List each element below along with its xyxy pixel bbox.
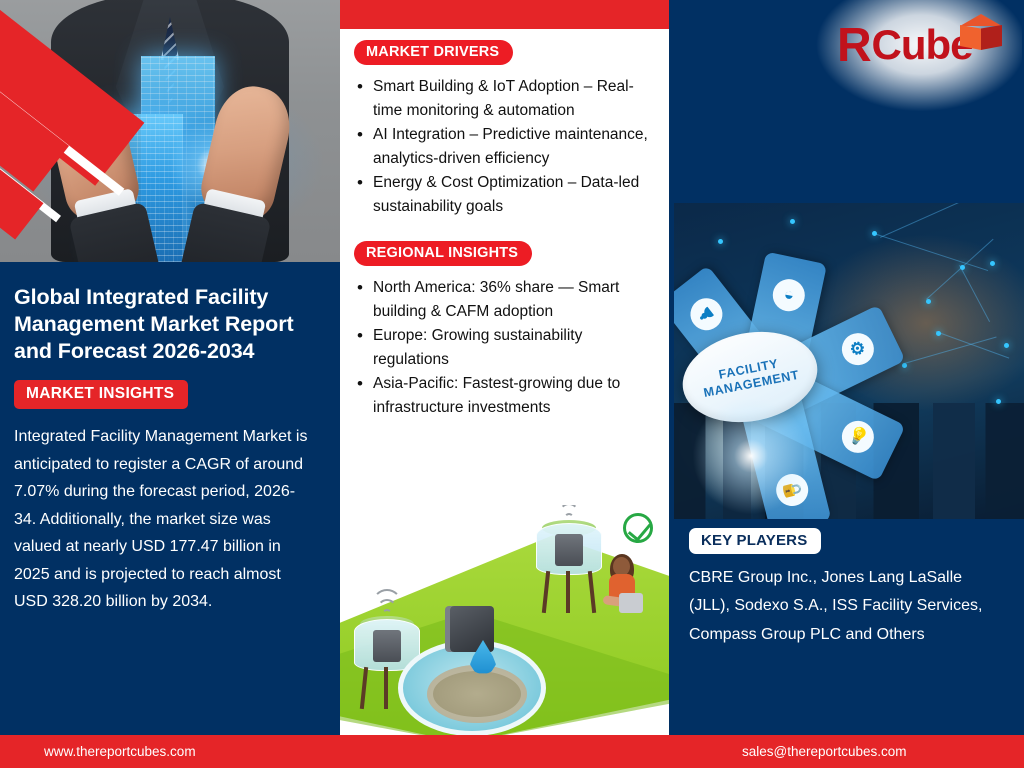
left-column: Global Integrated Facility Management Ma…	[0, 0, 340, 768]
list-item: Energy & Cost Optimization – Data-led su…	[354, 171, 657, 218]
logo-wordmark: ЯCube	[838, 22, 973, 70]
facility-management-illustration: ♟ ◐ ⚙ 💡 🔒 FACILITY MANAGEMENT	[674, 203, 1024, 519]
page-title: Global Integrated Facility Management Ma…	[14, 284, 316, 365]
cube-face-left	[960, 25, 981, 50]
regional-insights-badge: REGIONAL INSIGHTS	[354, 241, 532, 266]
person-icon: ♟	[684, 292, 729, 337]
network-line	[880, 203, 981, 238]
middle-column: MARKET DRIVERS Smart Building & IoT Adop…	[340, 0, 669, 768]
cube-face-right	[981, 25, 1002, 50]
check-circle-icon	[623, 513, 653, 543]
right-column: ЯCube	[669, 0, 1024, 768]
network-node	[790, 219, 795, 224]
list-item: AI Integration – Predictive maintenance,…	[354, 123, 657, 170]
water-reservoir	[398, 640, 546, 736]
network-node	[1004, 343, 1009, 348]
network-node	[926, 299, 931, 304]
tank-sensor-chip	[373, 630, 401, 662]
market-insights-badge: MARKET INSIGHTS	[14, 380, 188, 409]
middle-text-block: MARKET DRIVERS Smart Building & IoT Adop…	[340, 29, 669, 421]
cube-face-top	[960, 14, 1002, 26]
footer-email-link[interactable]: sales@thereportcubes.com	[742, 744, 907, 759]
water-tank-rear	[536, 523, 602, 613]
market-insights-text: Integrated Facility Management Market is…	[14, 423, 316, 616]
network-line	[959, 265, 990, 322]
iot-illustration	[340, 505, 669, 740]
list-item: Europe: Growing sustainability regulatio…	[354, 324, 657, 371]
list-item: Smart Building & IoT Adoption – Real-tim…	[354, 75, 657, 122]
infographic-page: Global Integrated Facility Management Ma…	[0, 0, 1024, 768]
middle-top-red-bar	[340, 0, 669, 29]
key-players-text: CBRE Group Inc., Jones Lang LaSalle (JLL…	[689, 564, 1002, 649]
network-node	[872, 231, 877, 236]
lightbulb-icon: 💡	[836, 415, 879, 458]
logo-cube-word: Cube	[872, 21, 973, 68]
microchip-icon	[450, 606, 494, 652]
lens-flare	[676, 381, 826, 519]
market-drivers-list: Smart Building & IoT Adoption – Real-tim…	[354, 75, 657, 218]
section-spacer	[354, 219, 657, 241]
network-line	[936, 331, 1010, 359]
gear-icon: ⚙	[836, 328, 879, 371]
network-node	[996, 399, 1001, 404]
tank-legs	[538, 571, 600, 613]
list-item: North America: 36% share — Smart buildin…	[354, 276, 657, 323]
network-node	[960, 265, 965, 270]
key-players-badge: KEY PLAYERS	[689, 528, 821, 554]
brand-logo[interactable]: ЯCube	[820, 2, 1010, 98]
reversed-r-icon: Я	[838, 22, 872, 70]
seated-worker-figure	[599, 557, 645, 619]
left-text-block: Global Integrated Facility Management Ma…	[0, 262, 340, 616]
cube-icon	[960, 14, 1002, 58]
hero-photo-businessman-skyscraper	[0, 0, 340, 262]
list-item: Asia-Pacific: Fastest-growing due to inf…	[354, 372, 657, 419]
pie-chart-icon: ◐	[770, 276, 808, 314]
key-players-block: KEY PLAYERS CBRE Group Inc., Jones Lang …	[669, 528, 1024, 649]
network-node	[936, 331, 941, 336]
market-drivers-badge: MARKET DRIVERS	[354, 40, 513, 65]
footer-website-link[interactable]: www.thereportcubes.com	[44, 744, 196, 759]
network-node	[990, 261, 995, 266]
tank-sensor-chip	[555, 534, 583, 566]
footer-bar: www.thereportcubes.com sales@thereportcu…	[0, 735, 1024, 768]
figure-seat-box	[619, 593, 643, 613]
regional-insights-list: North America: 36% share — Smart buildin…	[354, 276, 657, 419]
